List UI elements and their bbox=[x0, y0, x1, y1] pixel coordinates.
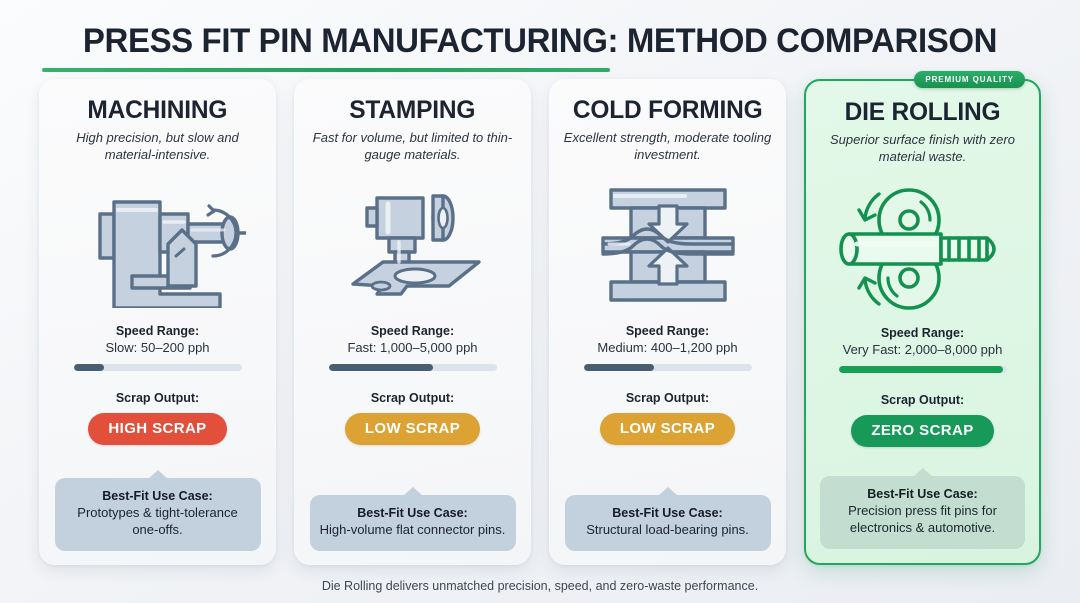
scrap-output-label: Scrap Output: bbox=[820, 393, 1025, 407]
lathe-machine-icon bbox=[70, 178, 246, 310]
scrap-badge: HIGH SCRAP bbox=[88, 413, 226, 445]
speed-range-value: Medium: 400–1,200 pph bbox=[563, 340, 772, 355]
card-subtitle: Excellent strength, moderate tooling inv… bbox=[563, 130, 772, 163]
speed-range-block: Speed Range: Medium: 400–1,200 pph bbox=[563, 324, 772, 371]
use-case-text: Precision press fit pins for electronics… bbox=[830, 503, 1015, 537]
use-case-callout-wrap: Best-Fit Use Case: Prototypes & tight-to… bbox=[53, 478, 262, 551]
use-case-callout: Best-Fit Use Case: Prototypes & tight-to… bbox=[55, 478, 261, 551]
card-title: STAMPING bbox=[350, 97, 476, 123]
use-case-label: Best-Fit Use Case: bbox=[830, 487, 1015, 501]
scrap-output-label: Scrap Output: bbox=[308, 391, 517, 405]
scrap-output-label: Scrap Output: bbox=[53, 391, 262, 405]
speed-bar-track bbox=[839, 366, 1007, 373]
speed-bar-track bbox=[329, 364, 497, 371]
card-subtitle: High precision, but slow and material-in… bbox=[53, 130, 262, 163]
card-subtitle: Superior surface finish with zero materi… bbox=[820, 132, 1025, 165]
footer-note: Die Rolling delivers unmatched precision… bbox=[0, 579, 1080, 593]
cold-forming-dies-icon bbox=[593, 178, 743, 310]
card-title: COLD FORMING bbox=[573, 97, 763, 123]
speed-bar-fill bbox=[74, 364, 104, 371]
speed-range-value: Slow: 50–200 pph bbox=[53, 340, 262, 355]
stamping-press-icon bbox=[333, 178, 493, 310]
use-case-callout: Best-Fit Use Case: High-volume flat conn… bbox=[310, 495, 516, 551]
method-card-machining[interactable]: MACHINING High precision, but slow and m… bbox=[39, 79, 276, 565]
scrap-badge: ZERO SCRAP bbox=[851, 415, 993, 447]
use-case-label: Best-Fit Use Case: bbox=[320, 506, 506, 520]
scrap-output-block: Scrap Output: HIGH SCRAP bbox=[53, 391, 262, 445]
speed-range-label: Speed Range: bbox=[820, 326, 1025, 340]
scrap-output-block: Scrap Output: LOW SCRAP bbox=[308, 391, 517, 445]
card-subtitle: Fast for volume, but limited to thin-gau… bbox=[308, 130, 517, 163]
use-case-label: Best-Fit Use Case: bbox=[575, 506, 761, 520]
use-case-callout: Best-Fit Use Case: Structural load-beari… bbox=[565, 495, 771, 551]
speed-range-block: Speed Range: Slow: 50–200 pph bbox=[53, 324, 262, 371]
speed-bar-track bbox=[74, 364, 242, 371]
method-card-stamping[interactable]: STAMPING Fast for volume, but limited to… bbox=[294, 79, 531, 565]
speed-range-block: Speed Range: Very Fast: 2,000–8,000 pph bbox=[820, 326, 1025, 373]
speed-bar-fill bbox=[584, 364, 655, 371]
scrap-output-block: Scrap Output: LOW SCRAP bbox=[563, 391, 772, 445]
card-title: MACHINING bbox=[88, 97, 228, 123]
speed-range-label: Speed Range: bbox=[563, 324, 772, 338]
method-card-row: MACHINING High precision, but slow and m… bbox=[0, 79, 1080, 565]
speed-bar-fill bbox=[329, 364, 433, 371]
method-card-cold-forming[interactable]: COLD FORMING Excellent strength, moderat… bbox=[549, 79, 786, 565]
method-card-die-rolling[interactable]: PREMIUM QUALITY DIE ROLLING Superior sur… bbox=[804, 79, 1041, 565]
scrap-badge: LOW SCRAP bbox=[600, 413, 735, 445]
die-rolling-threading-icon bbox=[835, 180, 1011, 312]
speed-range-value: Fast: 1,000–5,000 pph bbox=[308, 340, 517, 355]
header: PRESS FIT PIN MANUFACTURING: METHOD COMP… bbox=[0, 0, 1080, 72]
card-title: DIE ROLLING bbox=[845, 99, 1001, 125]
use-case-callout-wrap: Best-Fit Use Case: Precision press fit p… bbox=[820, 476, 1025, 549]
speed-range-block: Speed Range: Fast: 1,000–5,000 pph bbox=[308, 324, 517, 371]
scrap-output-block: Scrap Output: ZERO SCRAP bbox=[820, 393, 1025, 447]
use-case-text: High-volume flat connector pins. bbox=[320, 522, 506, 539]
scrap-badge: LOW SCRAP bbox=[345, 413, 480, 445]
use-case-callout-wrap: Best-Fit Use Case: High-volume flat conn… bbox=[308, 495, 517, 551]
infographic-page: PRESS FIT PIN MANUFACTURING: METHOD COMP… bbox=[0, 0, 1080, 603]
speed-range-label: Speed Range: bbox=[308, 324, 517, 338]
speed-range-value: Very Fast: 2,000–8,000 pph bbox=[820, 342, 1025, 357]
use-case-text: Structural load-bearing pins. bbox=[575, 522, 761, 539]
use-case-label: Best-Fit Use Case: bbox=[65, 489, 251, 503]
title-underline bbox=[42, 68, 610, 72]
premium-quality-badge: PREMIUM QUALITY bbox=[914, 71, 1025, 88]
speed-bar-fill bbox=[839, 366, 1004, 373]
speed-bar-track bbox=[584, 364, 752, 371]
use-case-callout-wrap: Best-Fit Use Case: Structural load-beari… bbox=[563, 495, 772, 551]
use-case-callout: Best-Fit Use Case: Precision press fit p… bbox=[820, 476, 1025, 549]
page-title: PRESS FIT PIN MANUFACTURING: METHOD COMP… bbox=[16, 22, 1064, 61]
scrap-output-label: Scrap Output: bbox=[563, 391, 772, 405]
use-case-text: Prototypes & tight-tolerance one-offs. bbox=[65, 505, 251, 539]
speed-range-label: Speed Range: bbox=[53, 324, 262, 338]
